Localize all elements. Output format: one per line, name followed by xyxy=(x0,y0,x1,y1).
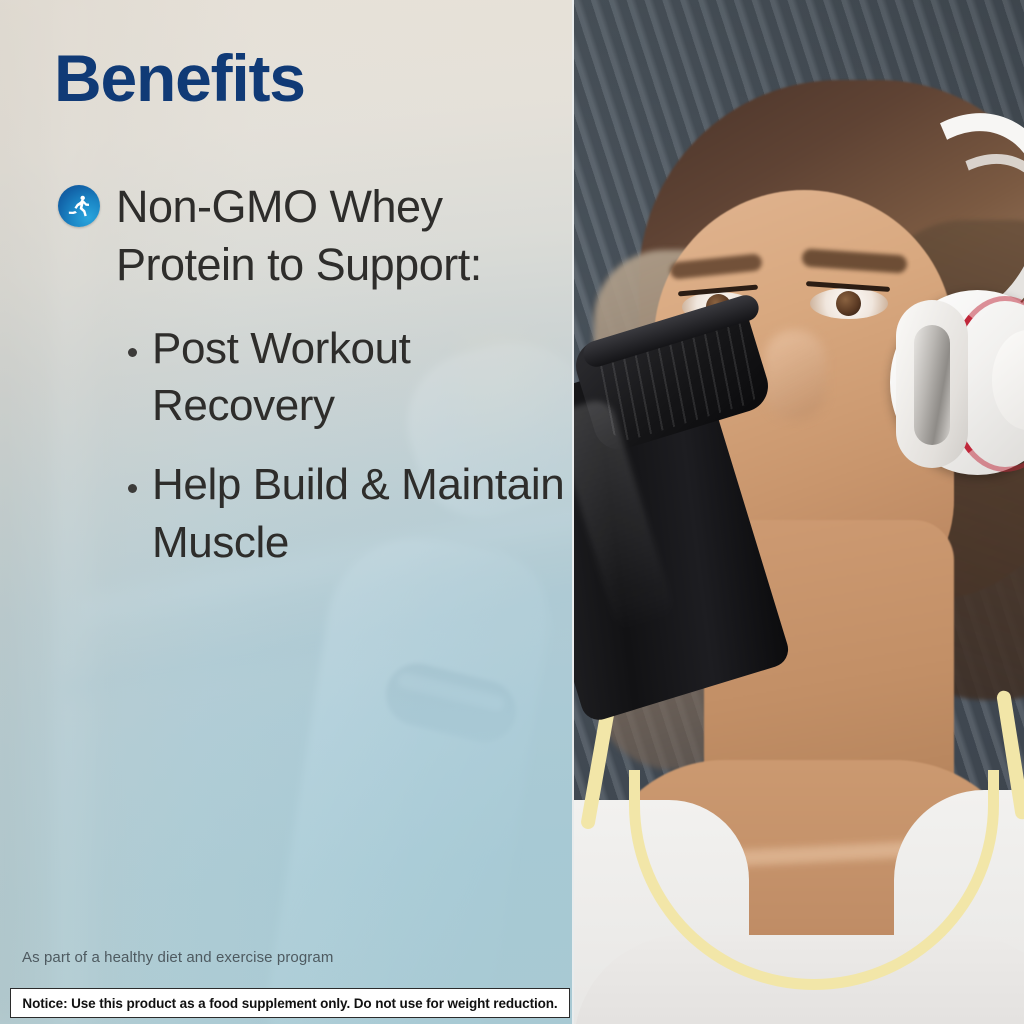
page-title: Benefits xyxy=(54,44,305,113)
product-lifestyle-photo xyxy=(574,0,1024,1024)
list-item: Help Build & Maintain Muscle xyxy=(128,456,568,570)
disclaimer-footnote: As part of a healthy diet and exercise p… xyxy=(22,949,333,966)
notice-text: Notice: Use this product as a food suppl… xyxy=(22,996,557,1011)
iris-right xyxy=(836,291,861,316)
list-item: Post Workout Recovery xyxy=(128,320,568,434)
lead-benefit-row: Non-GMO Whey Protein to Support: xyxy=(58,178,558,293)
benefit-item-label: Post Workout Recovery xyxy=(152,320,568,434)
product-benefits-panel: Benefits Non-GMO Whey Protein to Support… xyxy=(0,0,1024,1024)
eye-right xyxy=(810,288,888,319)
benefits-panel: Benefits Non-GMO Whey Protein to Support… xyxy=(0,0,572,1024)
lead-benefit-text: Non-GMO Whey Protein to Support: xyxy=(116,178,558,293)
nose xyxy=(764,330,826,420)
panel-divider xyxy=(572,0,574,1024)
bullet-dot-icon xyxy=(128,484,137,493)
benefit-item-label: Help Build & Maintain Muscle xyxy=(152,456,568,570)
headphone-chrome-hinge xyxy=(914,325,950,445)
benefit-list: Post Workout Recovery Help Build & Maint… xyxy=(128,320,568,593)
bullet-dot-icon xyxy=(128,348,137,357)
running-person-icon xyxy=(58,185,100,227)
notice-banner: Notice: Use this product as a food suppl… xyxy=(10,988,570,1018)
